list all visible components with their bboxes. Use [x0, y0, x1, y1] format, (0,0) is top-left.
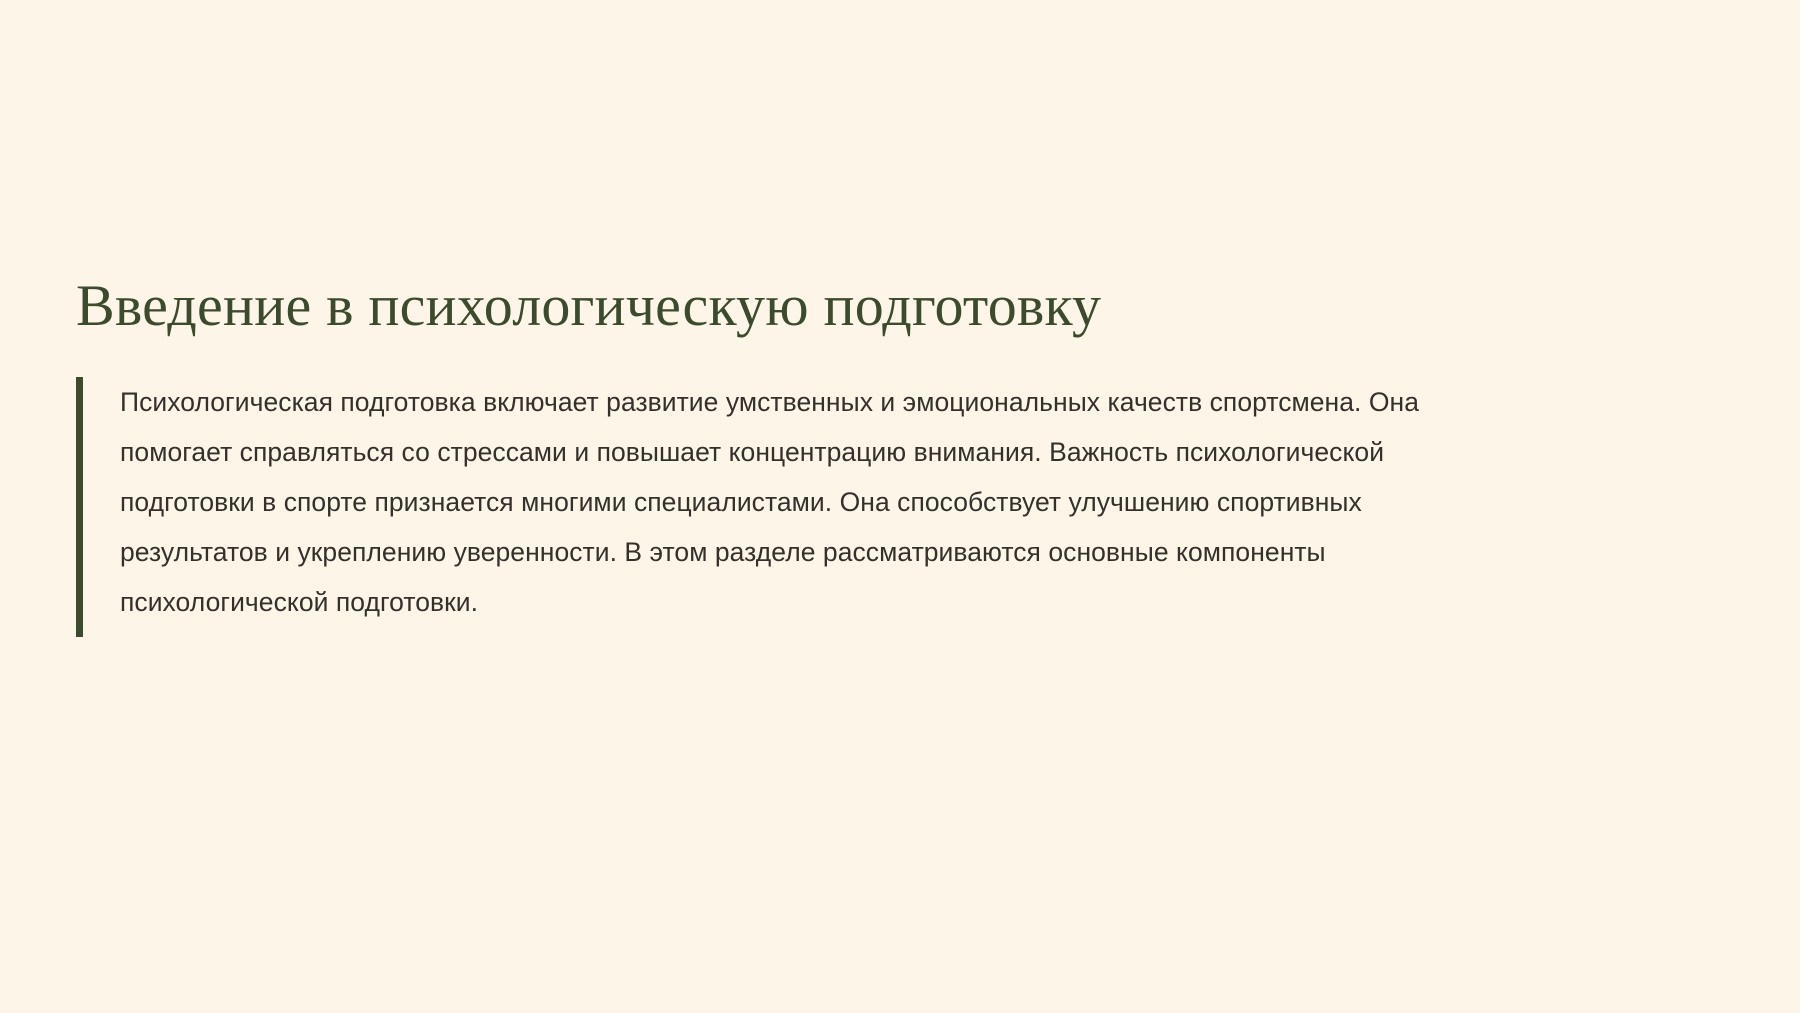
slide-canvas: Введение в психологическую подготовку Пс… [0, 0, 1800, 1013]
body-paragraph: Психологическая подготовка включает разв… [120, 377, 1476, 627]
slide-content: Введение в психологическую подготовку Пс… [76, 274, 1476, 637]
page-title: Введение в психологическую подготовку [76, 274, 1476, 339]
accent-bar-quote-block: Психологическая подготовка включает разв… [76, 377, 1476, 637]
